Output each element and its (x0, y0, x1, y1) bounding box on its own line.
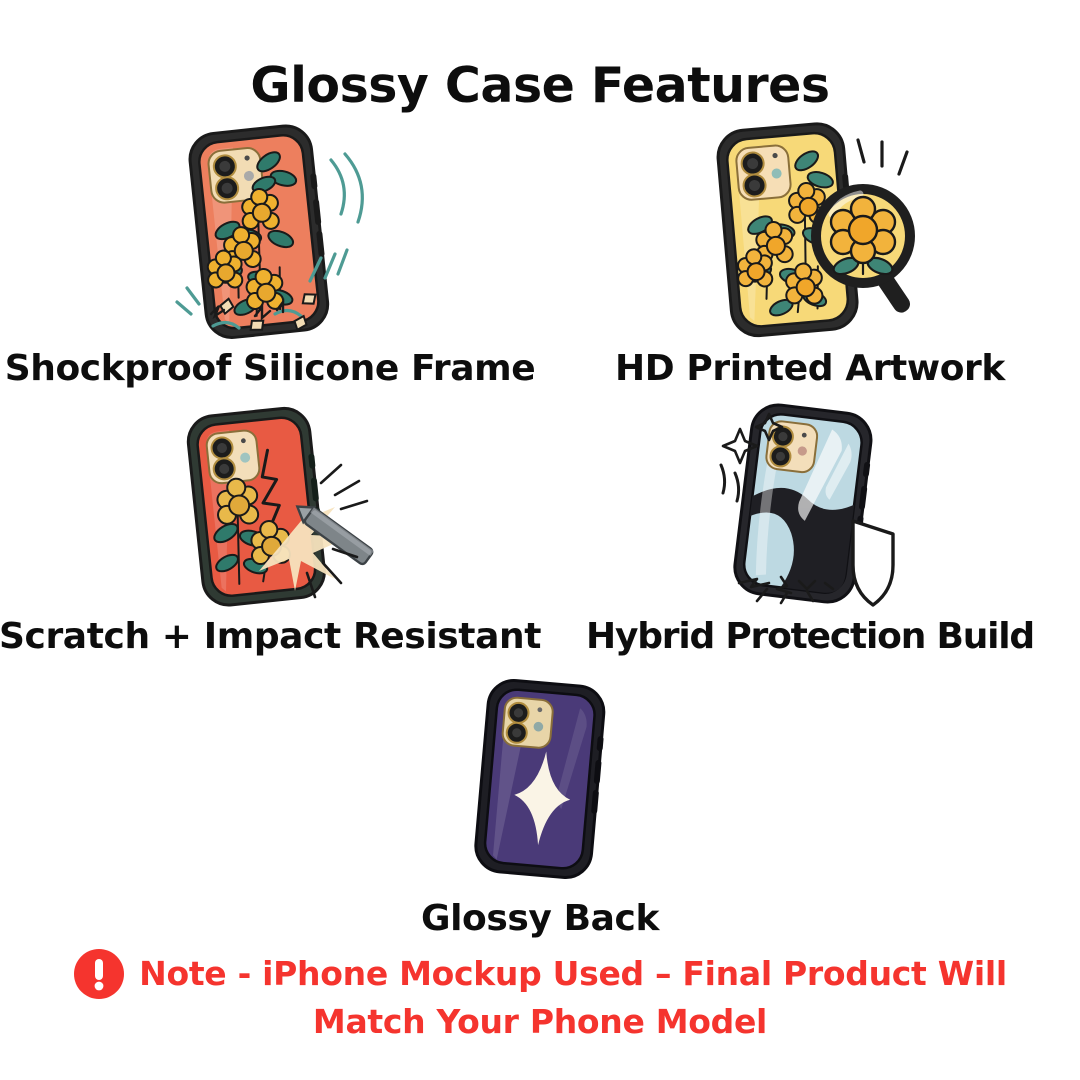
note-text-line-1: Note - iPhone Mockup Used – Final Produc… (139, 954, 1007, 994)
phone-case-purple-glossy-star-icon (440, 668, 640, 890)
phone-case-hybrid-shield-icon (695, 403, 925, 608)
note-line-1: Note - iPhone Mockup Used – Final Produc… (73, 948, 1007, 1000)
feature-scratch-impact-resistant: Scratch + Impact Resistant (0, 403, 540, 657)
phone-case-yellow-floral-magnifier-icon (686, 118, 934, 340)
page-title: Glossy Case Features (0, 59, 1080, 113)
feature-label: Scratch + Impact Resistant (0, 616, 541, 657)
feature-row-1: Shockproof Silicone Frame (0, 118, 1080, 403)
phone-case-coral-floral-impact-icon (155, 118, 385, 340)
exclamation-circle-icon (73, 948, 125, 1000)
feature-row-3: Glossy Back (0, 668, 1080, 913)
feature-row-2: Scratch + Impact Resistant (0, 403, 1080, 668)
feature-hd-printed-artwork: HD Printed Artwork (540, 118, 1080, 389)
feature-glossy-back: Glossy Back (0, 668, 1080, 939)
feature-label: HD Printed Artwork (615, 348, 1005, 389)
note-text-line-2: Match Your Phone Model (313, 1002, 767, 1042)
phone-case-red-floral-blade-icon (155, 403, 385, 608)
feature-label: Glossy Back (421, 898, 659, 939)
disclaimer-note: Note - iPhone Mockup Used – Final Produc… (0, 948, 1080, 1042)
feature-label: Hybrid Protection Build (586, 616, 1034, 657)
feature-shockproof-silicone-frame: Shockproof Silicone Frame (0, 118, 540, 389)
feature-label: Shockproof Silicone Frame (5, 348, 536, 389)
infographic-page: Glossy Case Features (0, 0, 1080, 1080)
feature-hybrid-protection-build: Hybrid Protection Build (540, 403, 1080, 657)
feature-grid: Shockproof Silicone Frame (0, 118, 1080, 913)
